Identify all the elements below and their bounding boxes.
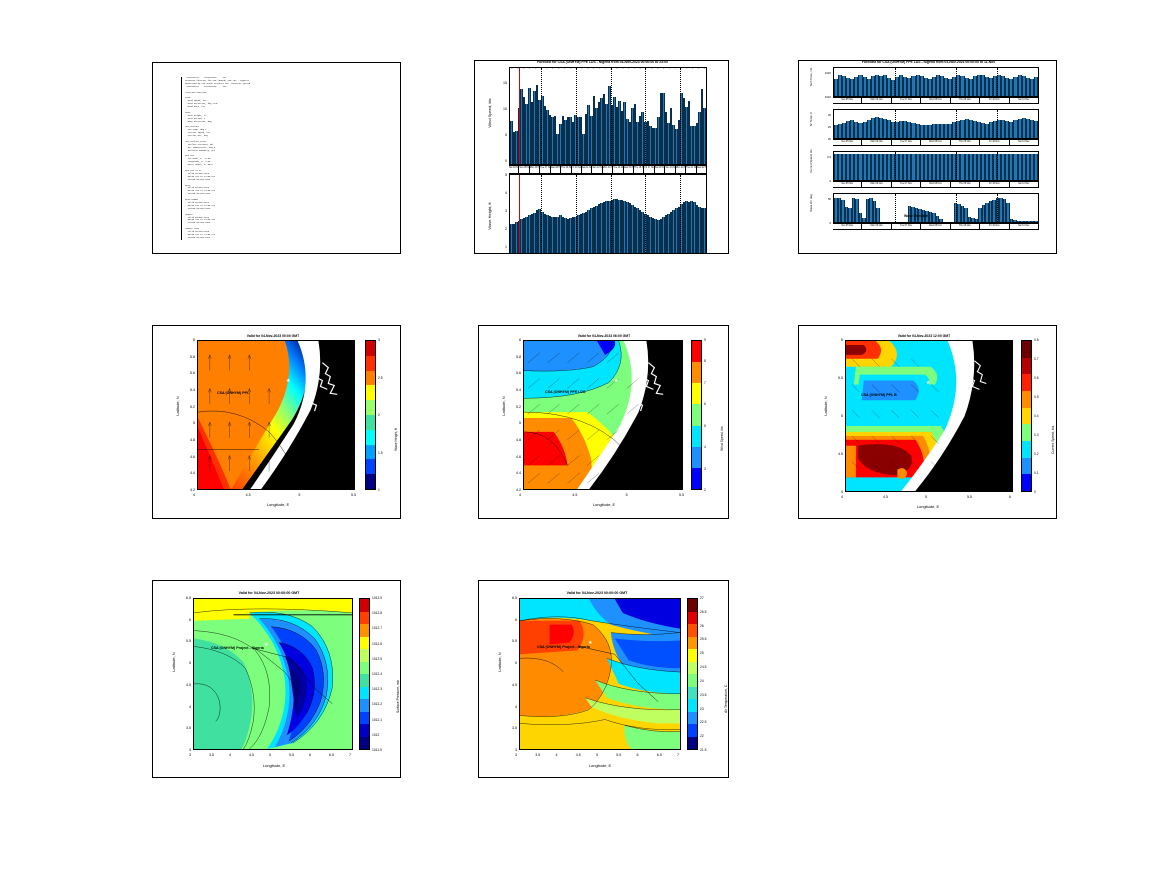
wind-direction-arrow: ↗: [674, 66, 677, 70]
colorbar-tick-label: 0.4: [1034, 414, 1039, 418]
colorbar-tick-label: 24: [700, 679, 704, 683]
panel8-xlabel: Longitude, E: [545, 763, 655, 768]
date-tick-label: Thu 09 Nov: [951, 182, 980, 187]
wave-direction-bars: [834, 194, 1038, 222]
date-tick-label: Thu 09 Nov: [951, 140, 980, 145]
date-tick-label: Wed 08 Nov: [921, 140, 950, 145]
wind-direction-arrow: ↗: [593, 66, 596, 70]
wave-gridline: [611, 175, 612, 254]
x-tick-label: 6: [1009, 495, 1011, 499]
x-tick-label: 3: [515, 753, 517, 757]
panel6-colorbar: [1021, 340, 1032, 492]
panel7-xlabel: Longitude, E: [219, 763, 329, 768]
wind-direction-arrow: ↗: [528, 66, 531, 70]
wind-direction-arrow: ↗: [581, 66, 584, 70]
gridline: [997, 152, 998, 180]
colorbar-tick-label: 8: [704, 359, 706, 363]
air-temperature-ytick: 30: [815, 113, 831, 117]
date-tick-label: Sat 04 Nov: [509, 166, 519, 173]
colorbar-tick-label: 0.1: [1034, 471, 1039, 475]
surface-pressure-bars: [834, 68, 1038, 96]
panel5-xlabel: Longitude, E: [549, 502, 659, 507]
date-tick-label: Fri 10 Nov: [980, 98, 1009, 103]
colorbar-tick-label: 1012.8: [372, 611, 382, 615]
panel7-site-label: CSA (ONHYM) Project - Nigeria: [211, 646, 264, 650]
y-tick-label: 5.4: [505, 388, 521, 392]
panel8-colorbar: [687, 598, 698, 750]
date-tick-label: Mon 20 Nov: [676, 166, 686, 173]
colorbar-tick-label: 23: [700, 707, 704, 711]
colorbar-tick-label: 6: [704, 402, 706, 406]
date-tick-label: Mon 06 Nov: [530, 166, 540, 173]
colorbar-tick-label: 26: [700, 624, 704, 628]
wind-direction-arrow: ↗: [628, 66, 631, 70]
panel4-colorbar-label: Wave Height, ft: [394, 428, 398, 451]
y-tick-label: 4.6: [179, 455, 195, 459]
wind-direction-arrow: ↗: [639, 66, 642, 70]
panel5-map: ★: [523, 340, 683, 490]
y-tick-label: 5.2: [505, 405, 521, 409]
date-tick-label: Tue 07 Nov: [892, 224, 921, 229]
colorbar-tick-label: 0.3: [1034, 433, 1039, 437]
y-tick-label: 5: [501, 661, 517, 665]
date-tick-label: Tue 14 Nov: [613, 166, 623, 173]
colorbar-tick-label: 0: [1034, 490, 1036, 494]
gridline: [895, 110, 896, 138]
date-tick-label: Thu 09 Nov: [951, 98, 980, 103]
y-tick-label: 5: [175, 661, 191, 665]
wind-tick-15: 15: [497, 81, 507, 85]
x-tick-label: 4: [229, 753, 231, 757]
gridline: [956, 110, 957, 138]
y-tick-label: 5: [505, 421, 521, 425]
y-tick-label: 4: [501, 705, 517, 709]
x-tick-label: 5: [626, 493, 628, 497]
wind-direction-arrow: ↗: [645, 66, 648, 70]
wave-tick-4: 4: [500, 191, 507, 195]
colorbar-tick-label: 24.5: [700, 665, 706, 669]
panel5-colorbar-label: Wind Speed, kts: [720, 426, 724, 451]
wind-direction-arrow: ↗: [663, 66, 666, 70]
date-tick-label: Wed 08 Nov: [921, 224, 950, 229]
wind-tick-5: 5: [500, 133, 507, 137]
date-tick-label: Wed 08 Nov: [921, 182, 950, 187]
current-speed-bars: [834, 152, 1038, 180]
colorbar-tick-label: 4: [704, 445, 706, 449]
wind-direction-arrow: ↗: [575, 66, 578, 70]
panel7-title: Valid for 04-Nov-2023 00:00:00 GMT: [179, 591, 359, 595]
x-tick-label: 5.5: [679, 493, 684, 497]
y-tick-label: 5.6: [179, 371, 195, 375]
gridline: [997, 68, 998, 96]
bar: [1034, 77, 1038, 96]
colorbar-tick-label: 0.8: [1034, 338, 1039, 342]
x-tick-label: 7: [349, 753, 351, 757]
panel4-map: ★: [197, 340, 355, 490]
x-tick-label: 6: [637, 753, 639, 757]
y-tick-label: 5.5: [501, 639, 517, 643]
wave-direction-ytick: 50: [815, 197, 831, 201]
date-tick-label: Thu 09 Nov: [951, 224, 980, 229]
date-tick-label: Sun 05 Nov: [519, 166, 529, 173]
y-tick-label: 4.8: [179, 438, 195, 442]
colorbar-tick-label: 1012.9: [372, 596, 382, 600]
x-tick-label: 3.5: [209, 753, 214, 757]
date-tick-label: Fri 10 Nov: [980, 224, 1009, 229]
wind-direction-arrow: ↗: [558, 66, 561, 70]
air-temperature-ytick: 25: [815, 125, 831, 129]
date-tick-label: Fri 10 Nov: [980, 182, 1009, 187]
colorbar-tick-label: 2: [378, 413, 380, 417]
wind-gridline: [541, 68, 542, 164]
y-tick-label: 4: [827, 490, 843, 494]
colorbar-tick-label: 1011.9: [372, 748, 382, 752]
panel4-xlabel: Longitude, E: [223, 502, 333, 507]
y-tick-label: 5.5: [827, 376, 843, 380]
bar: [876, 208, 880, 222]
date-tick-label: Sun 19 Nov: [665, 166, 675, 173]
x-tick-label: 5.5: [289, 753, 294, 757]
wind-tick-0: 0: [500, 159, 507, 163]
panel8-map: ★: [519, 598, 681, 750]
wind-direction-arrow: ↗: [692, 66, 695, 70]
panel7-colorbar-label: Surface Pressure, mb: [396, 680, 400, 713]
date-tick-label: Thu 16 Nov: [634, 166, 644, 173]
colorbar-tick-label: 9: [704, 338, 706, 342]
colorbar-tick-label: 26.5: [700, 610, 706, 614]
date-tick-label: Sun 05 Nov: [833, 98, 862, 103]
x-tick-label: 4.5: [246, 493, 251, 497]
wind-direction-arrow: ↗: [657, 66, 660, 70]
panel8-site-label: CSA (ONHYM) Project - Nigeria: [537, 645, 590, 649]
y-tick-label: 4.6: [505, 455, 521, 459]
date-tick-label: Mon 06 Nov: [862, 182, 891, 187]
panel3-title: Forecast for CSA (ONHYM) FPE LDS - Niger…: [799, 60, 1057, 64]
date-tick-label: Mon 06 Nov: [862, 140, 891, 145]
wind-arrow-row: ↗↗↗↗↗↗↗↗↗↗↗↗↗↗↗↗↗↗↗↗↗↗↗↗↗↗↗↗↗↗↗↗↗↗: [511, 66, 706, 70]
surface-pressure-ytick: 1010: [815, 95, 831, 99]
colorbar-tick-label: 3: [378, 338, 380, 342]
y-tick-label: 4.8: [505, 438, 521, 442]
panel-wave-height-map: Valid for 04-Nov-2023 00:00 GMT: [152, 325, 401, 519]
date-tick-label: Tue 07 Nov: [892, 98, 921, 103]
date-tick-label: Sat 11 Nov: [582, 166, 592, 173]
gridline: [956, 194, 957, 222]
wave-direction-ylabel: Wave Dir, deg: [809, 181, 813, 225]
date-tick-label: Sat 11 Nov: [1010, 98, 1039, 103]
panel6-site-label: CSA (ONHYM) PPL B: [861, 393, 897, 397]
wave-tick-1: 1: [500, 245, 507, 249]
y-tick-label: 5: [179, 421, 195, 425]
wind-direction-arrow: ↗: [540, 66, 543, 70]
wind-direction-arrow: ↗: [633, 66, 636, 70]
y-tick-label: 6.5: [501, 596, 517, 600]
wind-direction-arrow: ↗: [622, 66, 625, 70]
site-marker-star: ★: [614, 379, 618, 384]
y-tick-label: 5.8: [179, 355, 195, 359]
date-tick-label: Mon 06 Nov: [862, 224, 891, 229]
colorbar-tick-label: 1012: [372, 733, 379, 737]
x-tick-label: 5.5: [616, 753, 621, 757]
date-tick-label: Wed 22 Nov: [697, 166, 707, 173]
panel4-title: Valid for 04-Nov-2023 00:00 GMT: [173, 334, 373, 338]
y-tick-label: 4.4: [505, 471, 521, 475]
wind-direction-arrow: ↗: [680, 66, 683, 70]
wave-height-bars: [510, 175, 706, 254]
panel4-site-label: CSA (ONHYM) PPL: [217, 391, 249, 395]
panel8-colorbar-label: Air Temperature, C: [724, 685, 728, 713]
panel-multivariable-timeseries: Forecast for CSA (ONHYM) FPE LDS - Niger…: [798, 60, 1057, 254]
wind-direction-arrow: ↗: [569, 66, 572, 70]
colorbar-tick-label: 1: [378, 488, 380, 492]
colorbar-tick-label: 23.5: [700, 693, 706, 697]
wind-direction-arrow: ↗: [523, 66, 526, 70]
date-tick-label: Sun 05 Nov: [833, 224, 862, 229]
x-tick-label: 7: [677, 753, 679, 757]
y-tick-label: 4.5: [501, 683, 517, 687]
y-tick-label: 6: [179, 338, 195, 342]
gridline: [997, 194, 998, 222]
y-tick-label: 4.2: [179, 488, 195, 492]
surface-pressure-ylabel: Surf Press, mb: [809, 60, 813, 99]
y-tick-label: 4.5: [827, 452, 843, 456]
x-tick-label: 4: [841, 495, 843, 499]
y-tick-label: 4.2: [505, 488, 521, 492]
panel-air-temperature-map: Valid for 04-Nov-2023 00:00:00 GMT: [478, 580, 729, 778]
x-tick-label: 5.5: [351, 493, 356, 497]
wind-gridline: [645, 68, 646, 164]
x-tick-label: 4.5: [572, 493, 577, 497]
wave-tick-3: 3: [500, 209, 507, 213]
date-tick-label: Fri 10 Nov: [572, 166, 582, 173]
panel5-title: Valid for 04-Nov-2023 06:00 GMT: [504, 334, 704, 338]
y-tick-label: 5.2: [179, 405, 195, 409]
x-tick-label: 3: [189, 753, 191, 757]
x-tick-label: 6.5: [329, 753, 334, 757]
date-tick-label: Tue 07 Nov: [540, 166, 550, 173]
y-tick-label: 3: [175, 748, 191, 752]
gridline: [895, 152, 896, 180]
wind-now-marker: [519, 68, 520, 164]
wind-direction-arrow: ↗: [668, 66, 671, 70]
bar: [1034, 154, 1038, 180]
y-tick-label: 4: [175, 705, 191, 709]
panel-wind-speed-map: Valid for 04-Nov-2023 06:00 GMT: [478, 325, 729, 519]
wind-gridline: [576, 68, 577, 164]
panel8-title: Valid for 04-Nov-2023 00:00:00 GMT: [507, 591, 687, 595]
gridline: [997, 110, 998, 138]
x-tick-label: 6: [309, 753, 311, 757]
colorbar-tick-label: 1012.6: [372, 642, 382, 646]
panel3-date-strip: Sun 05 NovMon 06 NovTue 07 NovWed 08 Nov…: [833, 181, 1039, 188]
y-tick-label: 6: [505, 338, 521, 342]
wind-direction-arrow: ↗: [698, 66, 701, 70]
y-tick-label: 4.4: [179, 471, 195, 475]
date-tick-label: Sat 11 Nov: [1010, 224, 1039, 229]
bar: [1034, 221, 1038, 222]
colorbar-tick-label: 22: [700, 734, 704, 738]
colorbar-tick-label: 21.5: [700, 748, 706, 752]
x-tick-label: 4: [193, 493, 195, 497]
y-tick-label: 5: [827, 414, 843, 418]
panel6-title: Valid for 04-Nov-2023 12:00 GMT: [824, 334, 1024, 338]
colorbar-tick-label: 1012.3: [372, 687, 382, 691]
panel-current-speed-map: Valid for 04-Nov-2023 12:00 GMT: [798, 325, 1057, 519]
colorbar-tick-label: 1012.7: [372, 626, 382, 630]
gridline: [956, 152, 957, 180]
date-tick-label: Fri 17 Nov: [644, 166, 654, 173]
colorbar-tick-label: 25: [700, 651, 704, 655]
date-tick-label: Sat 11 Nov: [1010, 182, 1039, 187]
x-tick-label: 5: [925, 495, 927, 499]
bar: [703, 108, 706, 164]
panel-wind-wave-timeseries: Forecast for CSA (ONHYM) FPE LDS - Niger…: [474, 60, 729, 254]
colorbar-tick-label: 1012.1: [372, 718, 382, 722]
x-tick-label: 5: [269, 753, 271, 757]
date-tick-label: Tue 07 Nov: [892, 182, 921, 187]
wind-direction-arrow: ↗: [604, 66, 607, 70]
x-tick-label: 4.5: [883, 495, 888, 499]
wave-gridline: [541, 175, 542, 254]
panel2-date-strip: Sat 04 NovSun 05 NovMon 06 NovTue 07 Nov…: [509, 165, 707, 174]
colorbar-tick-label: 22.5: [700, 720, 706, 724]
wind-direction-arrow: ↗: [511, 66, 514, 70]
colorbar-tick-label: 0.5: [1034, 395, 1039, 399]
x-tick-label: 5.5: [967, 495, 972, 499]
panel6-xlabel: Longitude, E: [873, 504, 983, 509]
gridline: [895, 68, 896, 96]
x-tick-label: 3.5: [535, 753, 540, 757]
x-tick-label: 4.5: [576, 753, 581, 757]
panel-surface-pressure-map: Valid for 04-Nov-2023 00:00:00 GMT: [152, 580, 401, 778]
wind-direction-arrow: ↗: [546, 66, 549, 70]
colorbar-tick-label: 3: [704, 467, 706, 471]
date-tick-label: Wed 08 Nov: [921, 98, 950, 103]
wind-direction-arrow: ↗: [534, 66, 537, 70]
date-tick-label: Sat 11 Nov: [1010, 140, 1039, 145]
wind-tick-10: 10: [497, 107, 507, 111]
colorbar-tick-label: 5: [704, 424, 706, 428]
report-page: ========== ========== === Metocean forec…: [0, 0, 1167, 875]
gridline: [956, 68, 957, 96]
date-tick-label: Thu 09 Nov: [561, 166, 571, 173]
wind-direction-arrow: ↗: [616, 66, 619, 70]
wind-speed-bars: [510, 68, 706, 164]
panel3-date-strip: Sun 05 NovMon 06 NovTue 07 NovWed 08 Nov…: [833, 223, 1039, 230]
x-tick-label: 4.5: [249, 753, 254, 757]
surface-pressure-ytick: 1015: [815, 71, 831, 75]
bar: [1034, 121, 1038, 138]
wave-gridline: [680, 175, 681, 254]
current-speed-ytick: 0.5: [815, 155, 831, 159]
y-tick-label: 5.5: [175, 639, 191, 643]
air-temperature-ylabel: Air Temp, C: [809, 97, 813, 141]
colorbar-tick-label: 0.7: [1034, 357, 1039, 361]
report-text: ========== ========== === Metocean forec…: [181, 77, 400, 240]
bar: [939, 219, 943, 222]
panel7-colorbar: [359, 598, 370, 750]
wind-direction-arrow: ↗: [563, 66, 566, 70]
date-tick-label: Wed 15 Nov: [624, 166, 634, 173]
date-tick-label: Sun 05 Nov: [833, 140, 862, 145]
y-tick-label: 5.4: [179, 388, 195, 392]
colorbar-tick-label: 1.5: [378, 451, 383, 455]
colorbar-tick-label: 1012.5: [372, 657, 382, 661]
x-tick-label: 5: [298, 493, 300, 497]
panel2-title: Forecast for CSA (ONHYM) FPE LDS - Niger…: [475, 60, 729, 64]
date-tick-label: Sat 18 Nov: [655, 166, 665, 173]
x-tick-label: 4: [519, 493, 521, 497]
air-temperature-bars: [834, 110, 1038, 138]
panel5-site-label: CSA (ONHYM) FPE LDS: [545, 390, 585, 394]
site-marker-star: ★: [286, 379, 290, 384]
wind-direction-arrow: ↗: [703, 66, 706, 70]
current-speed-ytick: 0: [815, 179, 831, 183]
date-tick-label: Tue 21 Nov: [686, 166, 696, 173]
site-marker-star: ★: [264, 643, 268, 648]
wave-direction-ytick: 0: [815, 221, 831, 225]
wave-tick-2: 2: [500, 227, 507, 231]
wave-gridline: [645, 175, 646, 254]
y-tick-label: 6.5: [175, 596, 191, 600]
colorbar-tick-label: 0.2: [1034, 452, 1039, 456]
site-marker-star: ★: [926, 381, 930, 386]
wind-direction-arrow: ↗: [552, 66, 555, 70]
panel3-date-strip: Sun 05 NovMon 06 NovTue 07 NovWed 08 Nov…: [833, 139, 1039, 146]
date-tick-label: Fri 10 Nov: [980, 140, 1009, 145]
date-tick-label: Mon 06 Nov: [862, 98, 891, 103]
wind-direction-arrow: ↗: [587, 66, 590, 70]
panel6-colorbar-label: Current Speed, kts: [1051, 426, 1055, 454]
wind-direction-arrow: ↗: [651, 66, 654, 70]
wind-speed-ylabel: Wind Speed, kts: [487, 65, 492, 161]
colorbar-tick-label: 1012.2: [372, 702, 382, 706]
x-tick-label: 4: [556, 753, 558, 757]
date-tick-label: Sun 12 Nov: [592, 166, 602, 173]
colorbar-tick-label: 27: [700, 596, 704, 600]
date-tick-label: Sun 05 Nov: [833, 182, 862, 187]
panel4-colorbar: [365, 340, 376, 490]
colorbar-tick-label: 25.5: [700, 637, 706, 641]
y-tick-label: 3.5: [175, 726, 191, 730]
colorbar-tick-label: 0.6: [1034, 376, 1039, 380]
panel3-watermark: Wave Direction: [904, 214, 928, 218]
date-tick-label: Mon 13 Nov: [603, 166, 613, 173]
colorbar-tick-label: 2: [704, 488, 706, 492]
panel3-date-strip: Sun 05 NovMon 06 NovTue 07 NovWed 08 Nov…: [833, 97, 1039, 104]
panel-text-report: ========== ========== === Metocean forec…: [152, 62, 401, 254]
bar: [703, 208, 706, 254]
panel6-map: ★: [845, 340, 1013, 492]
panel5-colorbar: [691, 340, 702, 490]
wind-direction-arrow: ↗: [610, 66, 613, 70]
y-tick-label: 6: [175, 618, 191, 622]
panel7-map: ★: [193, 598, 353, 750]
date-tick-label: Tue 07 Nov: [892, 140, 921, 145]
y-tick-label: 5.8: [505, 355, 521, 359]
y-tick-label: 3.5: [501, 726, 517, 730]
wave-height-ylabel: Wave Height, ft: [487, 171, 492, 254]
wind-direction-arrow: ↗: [598, 66, 601, 70]
colorbar-tick-label: 2.5: [378, 376, 383, 380]
gridline: [895, 194, 896, 222]
date-tick-label: Wed 08 Nov: [551, 166, 561, 173]
y-tick-label: 3: [501, 748, 517, 752]
wind-gridline: [611, 68, 612, 164]
wind-direction-arrow: ↗: [686, 66, 689, 70]
wind-gridline: [680, 68, 681, 164]
wind-direction-arrow: ↗: [517, 66, 520, 70]
